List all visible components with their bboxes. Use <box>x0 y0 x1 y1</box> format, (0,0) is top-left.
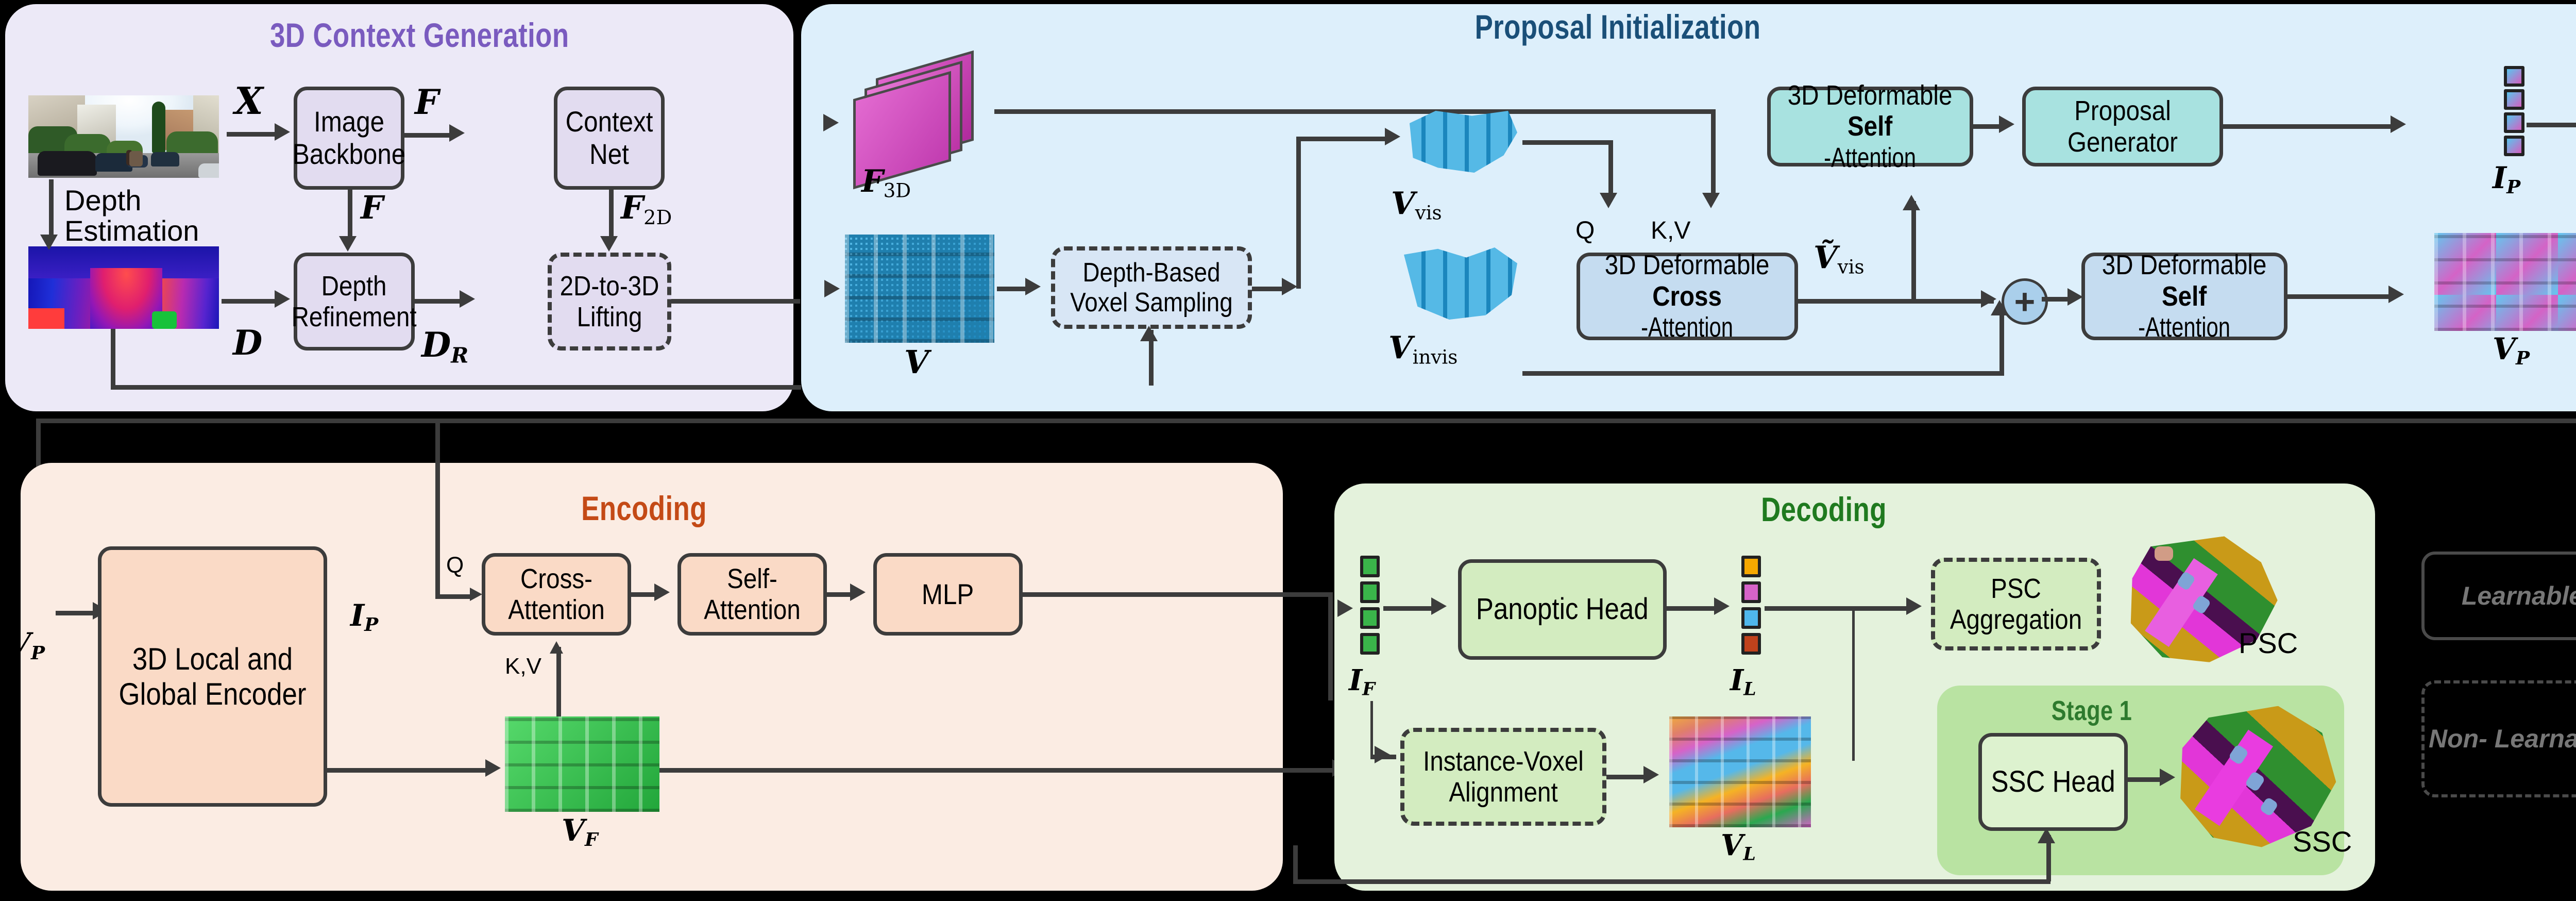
feature-3d-planes <box>845 64 999 173</box>
label-V-vis: Vvis <box>1391 188 1442 223</box>
label-I-P-encoding: IP <box>350 600 378 635</box>
node-ssc-head-label: SSC Head <box>1991 765 2115 799</box>
node-instance-voxel-alignment-label: Instance-Voxel Alignment <box>1416 746 1590 808</box>
voxel-grid-V-P <box>2434 233 2576 331</box>
node-cross-attention-post: -Attention <box>1641 312 1733 343</box>
node-instance-voxel-alignment[interactable]: Instance-Voxel Alignment <box>1400 728 1606 826</box>
label-VP-sub: P <box>2516 347 2530 369</box>
depth-map-image <box>28 246 219 329</box>
label-PSC: PSC <box>2239 626 2298 660</box>
node-panoptic-head-label: Panoptic Head <box>1476 593 1649 626</box>
legend-non-learnable: Non- Learnable <box>2421 680 2576 797</box>
label-V-P-proposal: VP <box>2493 334 2530 368</box>
node-voxel-sampling-label: Depth-Based Voxel Sampling <box>1066 258 1236 318</box>
label-V-F: VF <box>562 815 598 849</box>
label-Vtilde-base: Ṽ <box>1814 240 1838 276</box>
label-Q-encoding: Q <box>446 553 464 578</box>
label-IF-base: I <box>1349 663 1362 697</box>
label-DR: DR <box>421 328 468 366</box>
node-mlp-label: MLP <box>922 578 974 611</box>
label-F-1: F <box>415 85 439 119</box>
panel-title-stage1: Stage 1 <box>2026 695 2158 727</box>
node-self-attn-top-post: -Attention <box>1824 142 1916 173</box>
node-self-attn-bot-line1: 3D Deformable <box>2102 249 2267 280</box>
node-3d-deformable-self-attention-top[interactable]: 3D Deformable Self-Attention <box>1767 87 1973 166</box>
label-F3D-sub: 3D <box>884 179 911 202</box>
voxel-grid-V-L <box>1669 716 1811 827</box>
panel-proposal-initialization <box>801 4 2576 411</box>
label-X: X <box>234 82 263 120</box>
label-IP-base: I <box>2493 160 2506 195</box>
label-F2D-base: F <box>621 189 643 226</box>
node-3d-deformable-self-attention-bottom[interactable]: 3D Deformable Self-Attention <box>2081 253 2287 340</box>
node-depth-refinement-label: Depth Refinement <box>292 271 417 333</box>
node-context-net-label: Context Net <box>564 106 655 170</box>
node-context-net[interactable]: Context Net <box>554 87 665 190</box>
panel-title-encoding: Encoding <box>500 489 788 528</box>
label-VP-enc-base: V <box>8 626 31 661</box>
label-F-2: F <box>361 192 383 224</box>
node-image-backbone[interactable]: Image Backbone <box>294 87 404 190</box>
label-KV-proposal: K,V <box>1651 216 1690 245</box>
panel-title-decoding: Decoding <box>1680 490 1968 529</box>
node-cross-attention-enc-label: Cross- Attention <box>494 563 619 626</box>
node-proposal-generator-label: Proposal Generator <box>2038 95 2208 158</box>
label-VF-sub: F <box>585 829 598 850</box>
label-SSC: SSC <box>2293 825 2352 858</box>
node-cross-attention-line1: 3D Deformable <box>1605 249 1770 280</box>
label-V-P-encoding: VP <box>8 629 45 663</box>
node-2d-to-3d-lifting[interactable]: 2D-to-3D Lifting <box>548 253 671 351</box>
label-VL-sub: L <box>1743 844 1755 865</box>
node-depth-based-voxel-sampling[interactable]: Depth-Based Voxel Sampling <box>1051 246 1252 329</box>
label-V-L: VL <box>1721 831 1756 863</box>
label-D: D <box>233 326 262 360</box>
label-Vtilde-sub: vis <box>1838 255 1865 278</box>
node-self-attn-bot-post: -Attention <box>2138 312 2230 343</box>
node-image-backbone-label: Image Backbone <box>293 106 405 170</box>
voxel-grid-V-F <box>505 716 659 812</box>
node-psc-aggregation[interactable]: PSC Aggregation <box>1931 558 2101 650</box>
node-encoder-label: 3D Local and Global Encoder <box>115 642 310 711</box>
label-IF-sub: F <box>1362 679 1375 700</box>
label-I-F: IF <box>1349 666 1375 698</box>
voxel-grid-V <box>845 235 994 343</box>
legend-learnable: Learnable <box>2421 552 2576 640</box>
node-2d-to-3d-lifting-label: 2D-to-3D Lifting <box>558 271 660 333</box>
node-self-attention-enc-label: Self- Attention <box>690 563 815 626</box>
node-cross-attention-bold: Cross <box>1653 281 1722 312</box>
label-V-invis: Vinvis <box>1388 332 1458 367</box>
diagram-canvas: 3D Context Generation X Depth Estimation <box>0 0 2576 901</box>
node-self-attention-encoding[interactable]: Self- Attention <box>677 553 827 636</box>
node-mlp[interactable]: MLP <box>873 553 1023 636</box>
label-Q-proposal: Q <box>1575 216 1595 245</box>
node-cross-attention-encoding[interactable]: Cross- Attention <box>482 553 631 636</box>
label-IL-base: I <box>1730 663 1743 697</box>
label-F2D-sub: 2D <box>643 206 672 229</box>
label-KV-encoding: K,V <box>505 654 541 679</box>
label-VL-base: V <box>1721 828 1743 862</box>
label-I-P-proposal: IP <box>2493 163 2520 197</box>
label-VF-base: V <box>562 813 585 848</box>
node-3d-local-global-encoder[interactable]: 3D Local and Global Encoder <box>98 546 327 807</box>
input-rgb-image <box>28 95 219 178</box>
label-Vinvis-sub: invis <box>1413 345 1458 368</box>
label-IP-sub: P <box>2506 176 2520 198</box>
node-psc-aggregation-label: PSC Aggregation <box>1945 573 2087 636</box>
node-3d-deformable-cross-attention[interactable]: 3D Deformable Cross-Attention <box>1577 253 1798 340</box>
label-depth-estimation-line1: Depth Estimation <box>64 186 162 246</box>
node-self-attn-top-bold: Self <box>1848 111 1892 142</box>
label-IP-enc-base: I <box>350 598 364 633</box>
node-self-attn-bot-bold: Self <box>2162 281 2207 312</box>
label-F2D: F2D <box>621 192 672 228</box>
label-VP-base: V <box>2493 331 2516 366</box>
label-V: V <box>904 346 929 378</box>
voxel-cluster-V-vis <box>1399 106 1522 180</box>
label-I-L: IL <box>1730 666 1756 698</box>
label-V-tilde-vis: Ṽvis <box>1814 242 1865 277</box>
node-self-attn-top-line1: 3D Deformable <box>1788 80 1953 111</box>
label-F3D-base: F <box>861 163 884 199</box>
label-F3D: F3D <box>861 166 911 201</box>
label-Vvis-sub: vis <box>1415 201 1442 224</box>
panel-title-context: 3D Context Generation <box>270 15 534 55</box>
legend-non-learnable-label: Non- Learnable <box>2429 725 2576 753</box>
add-operator-symbol: + <box>2014 281 2036 322</box>
label-IP-enc-sub: P <box>364 614 378 636</box>
legend-learnable-label: Learnable <box>2462 582 2576 610</box>
node-proposal-generator[interactable]: Proposal Generator <box>2022 87 2223 166</box>
label-Vinvis-base: V <box>1388 330 1413 366</box>
voxel-cluster-V-invis <box>1399 245 1522 327</box>
node-panoptic-head[interactable]: Panoptic Head <box>1458 559 1667 660</box>
node-ssc-head[interactable]: SSC Head <box>1978 733 2128 831</box>
panel-title-proposal: Proposal Initialization <box>1329 7 1906 46</box>
label-DR-sub: R <box>451 343 468 368</box>
node-depth-refinement[interactable]: Depth Refinement <box>294 253 415 351</box>
label-Vvis-base: V <box>1391 186 1415 222</box>
add-operator: + <box>2002 278 2048 325</box>
label-VP-enc-sub: P <box>31 642 45 664</box>
label-IL-sub: L <box>1743 679 1756 700</box>
label-DR-base: D <box>421 325 451 365</box>
